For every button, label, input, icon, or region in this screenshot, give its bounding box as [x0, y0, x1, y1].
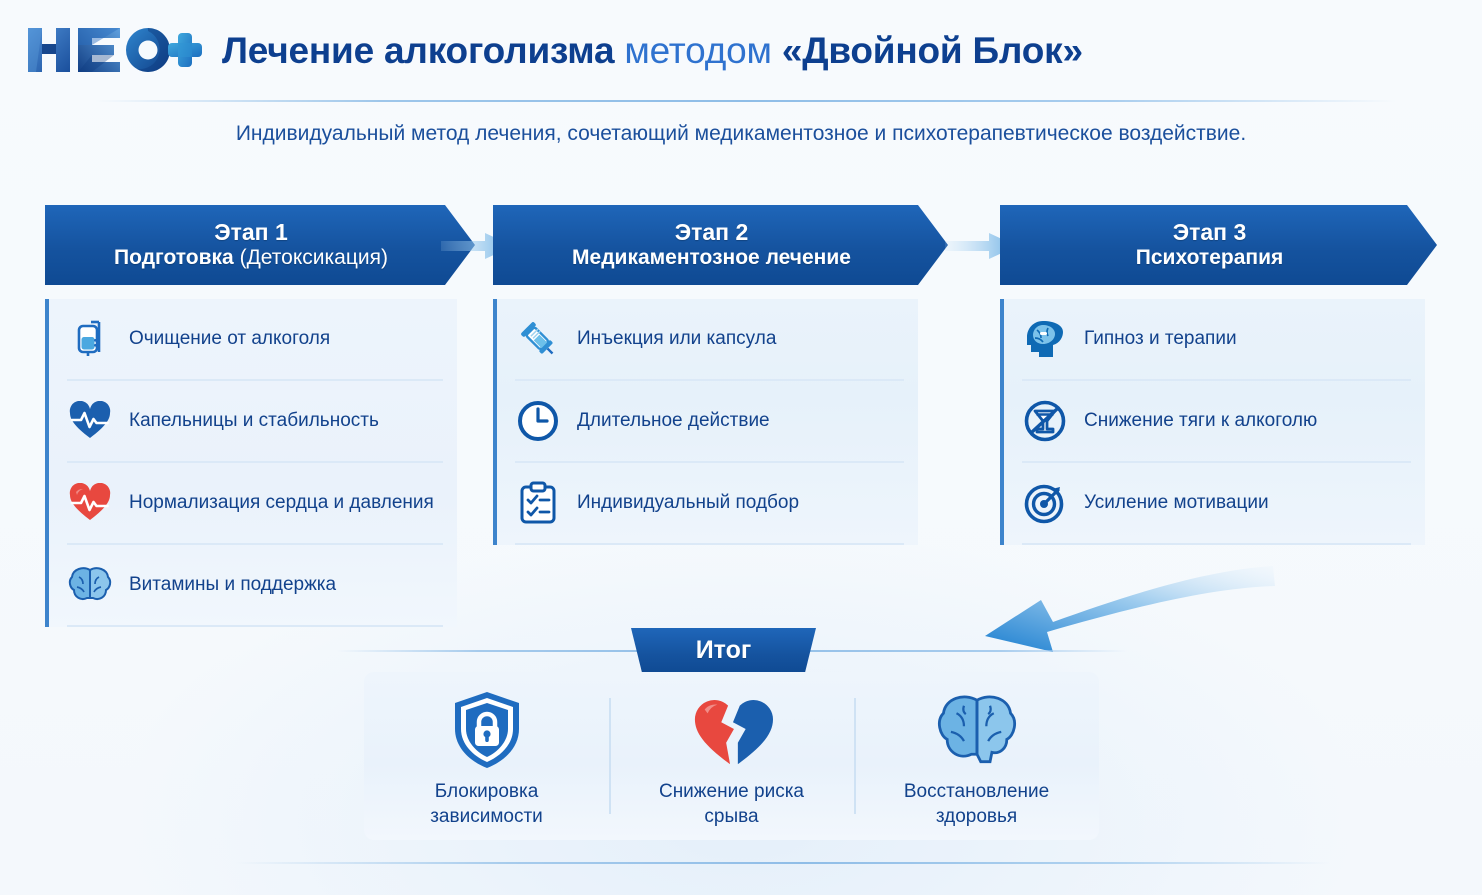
curved-arrow-left-icon [975, 548, 1275, 658]
stage-1-card: Очищение от алкоголя Капельницы и стабил… [45, 299, 457, 627]
heart-pulse-blue-icon [67, 398, 113, 444]
feature-row[interactable]: Длительное действие [515, 381, 904, 463]
shield-lock-icon [446, 689, 528, 771]
header-divider [95, 100, 1395, 102]
feature-label: Инъекция или капсула [577, 328, 776, 350]
infographic-page: Лечение алкоголизма методом «Двойной Бло… [0, 0, 1482, 895]
title-part-soft: методом [624, 30, 771, 71]
stages-section: Этап 1 Подготовка (Детоксикация) [45, 205, 1437, 565]
feature-row[interactable]: Гипноз и терапии [1022, 299, 1411, 381]
feature-row[interactable]: Инъекция или капсула [515, 299, 904, 381]
heart-pulse-red-icon [67, 480, 113, 526]
stage-1-number: Этап 1 [214, 220, 288, 246]
feature-label: Индивидуальный подбор [577, 492, 799, 514]
feature-row[interactable]: Снижение тяги к алкоголю [1022, 381, 1411, 463]
result-item-label: Снижение риска срыва [659, 779, 804, 829]
stage-3: Этап 3 Психотерапия Гипноз и т [1000, 205, 1437, 545]
page-title: Лечение алкоголизма методом «Двойной Бло… [222, 32, 1083, 69]
feature-label: Гипноз и терапии [1084, 328, 1237, 350]
syringe-icon [515, 316, 561, 362]
feature-label: Усиление мотивации [1084, 492, 1269, 514]
feature-row[interactable]: Капельницы и стабильность [67, 381, 443, 463]
title-part-strong-2: «Двойной Блок» [782, 30, 1083, 71]
stage-2-name-bold: Медикаментозное лечение [572, 246, 851, 269]
feature-label: Капельницы и стабильность [129, 410, 379, 432]
feature-label: Снижение тяги к алкоголю [1084, 410, 1317, 432]
target-arrow-icon [1022, 480, 1068, 526]
no-alcohol-glass-icon [1022, 398, 1068, 444]
stage-3-number: Этап 3 [1173, 220, 1247, 246]
result-item[interactable]: Блокировка зависимости [364, 672, 609, 840]
broken-heart-icon [691, 689, 773, 771]
result-item-label: Блокировка зависимости [430, 779, 543, 829]
stage-1-name-bold: Подготовка [114, 246, 234, 269]
page-header: Лечение алкоголизма методом «Двойной Бло… [0, 0, 1482, 100]
stage-1: Этап 1 Подготовка (Детоксикация) [45, 205, 475, 627]
feature-label: Длительное действие [577, 410, 770, 432]
stage-3-name-bold: Психотерапия [1136, 246, 1283, 269]
stage-1-name: Подготовка (Детоксикация) [114, 245, 388, 270]
bottom-divider [235, 862, 1330, 864]
feature-row[interactable]: Очищение от алкоголя [67, 299, 443, 381]
stage-3-banner: Этап 3 Психотерапия [1000, 205, 1437, 285]
result-item[interactable]: Восстановление здоровья [854, 672, 1099, 840]
brain-icon [67, 562, 113, 608]
feature-row[interactable]: Витамины и поддержка [67, 545, 443, 627]
feature-row[interactable]: Индивидуальный подбор [515, 463, 904, 545]
feature-label: Очищение от алкоголя [129, 328, 330, 350]
clock-icon [515, 398, 561, 444]
head-brain-icon [1022, 316, 1068, 362]
neo-plus-logo-icon [26, 24, 204, 76]
stage-3-card: Гипноз и терапии Снижение тяги к алкогол… [1000, 299, 1425, 545]
result-card: Блокировка зависимости Снижение риска ср… [364, 672, 1099, 840]
clipboard-checklist-icon [515, 480, 561, 526]
title-part-strong-1: Лечение алкоголизма [222, 30, 614, 71]
stage-2-number: Этап 2 [675, 220, 749, 246]
result-item-label: Восстановление здоровья [904, 779, 1049, 829]
feature-label: Нормализация сердца и давления [129, 492, 434, 514]
feature-row[interactable]: Нормализация сердца и давления [67, 463, 443, 545]
iv-drip-icon [67, 316, 113, 362]
feature-row[interactable]: Усиление мотивации [1022, 463, 1411, 545]
result-item[interactable]: Снижение риска срыва [609, 672, 854, 840]
stage-3-name: Психотерапия [1136, 245, 1283, 270]
result-banner: Итог [631, 628, 816, 673]
stage-2-card: Инъекция или капсула Длительное действие [493, 299, 918, 545]
stage-2-name: Медикаментозное лечение [572, 245, 851, 270]
brain-icon [936, 689, 1018, 771]
stage-2-banner: Этап 2 Медикаментозное лечение [493, 205, 948, 285]
stage-2: Этап 2 Медикаментозное лечение [493, 205, 923, 545]
feature-label: Витамины и поддержка [129, 574, 336, 596]
page-subtitle: Индивидуальный метод лечения, сочетающий… [0, 122, 1482, 146]
stage-1-banner: Этап 1 Подготовка (Детоксикация) [45, 205, 475, 285]
stage-1-name-light: (Детоксикация) [240, 246, 388, 269]
